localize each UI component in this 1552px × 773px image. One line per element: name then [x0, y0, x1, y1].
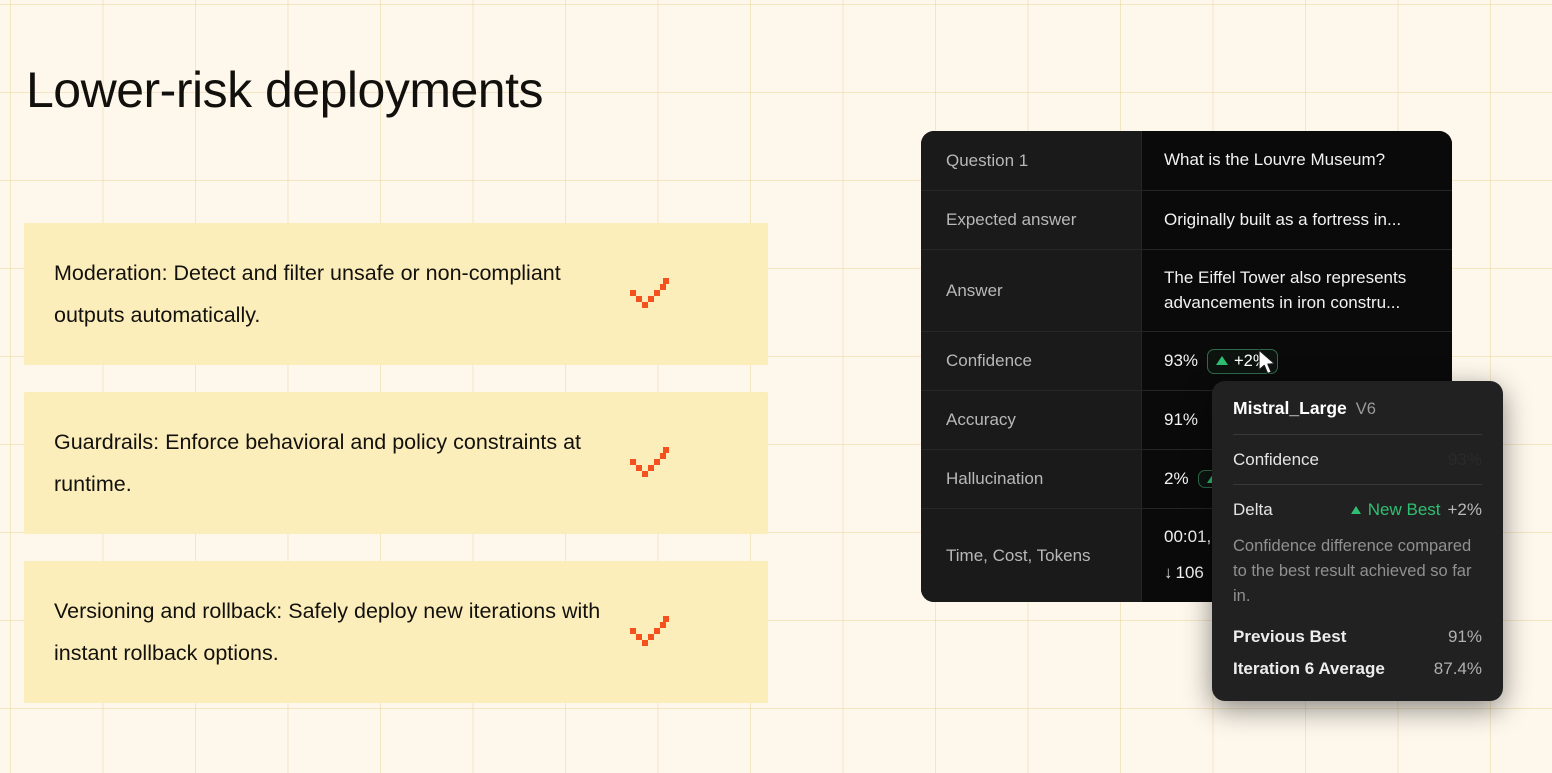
arrow-down-icon: ↓	[1164, 563, 1173, 582]
pixel-check-icon	[630, 616, 670, 648]
eval-value-text: 91%	[1164, 408, 1198, 433]
tooltip-stat-label: Previous Best	[1233, 627, 1346, 647]
feature-card-text: Moderation: Detect and filter unsafe or …	[54, 252, 614, 336]
tooltip-delta-value: +2%	[1448, 500, 1483, 520]
eval-value-text: 93%	[1164, 349, 1198, 374]
tooltip-confidence-label: Confidence	[1233, 450, 1319, 470]
feature-card-versioning[interactable]: Versioning and rollback: Safely deploy n…	[24, 561, 768, 703]
tooltip-model-version: V6	[1356, 400, 1376, 419]
tooltip-model-name: Mistral_Large	[1233, 398, 1347, 419]
triangle-up-icon	[1216, 356, 1228, 365]
eval-value-text: What is the Louvre Museum?	[1164, 148, 1432, 173]
eval-row-label: Expected answer	[921, 191, 1142, 249]
tooltip-delta-values: New Best +2%	[1351, 500, 1482, 520]
eval-row-question: Question 1 What is the Louvre Museum?	[921, 131, 1452, 190]
eval-value-text: 2%	[1164, 467, 1189, 492]
feature-card-text: Versioning and rollback: Safely deploy n…	[54, 590, 614, 674]
eval-row-value: The Eiffel Tower also represents advance…	[1142, 250, 1452, 331]
confidence-delta-badge[interactable]: +2%	[1207, 349, 1277, 375]
tooltip-description: Confidence difference compared to the be…	[1233, 534, 1482, 621]
confidence-tooltip: Mistral_Large V6 Confidence 93% Delta Ne…	[1212, 381, 1503, 701]
tooltip-stat-iteration-average: Iteration 6 Average 87.4%	[1233, 653, 1482, 685]
page-title: Lower-risk deployments	[26, 60, 543, 120]
tooltip-header: Mistral_Large V6	[1233, 398, 1482, 434]
eval-row-value: What is the Louvre Museum?	[1142, 131, 1452, 190]
tooltip-new-best-badge: New Best	[1368, 500, 1441, 520]
tooltip-delta-label: Delta	[1233, 500, 1273, 520]
tooltip-stat-previous-best: Previous Best 91%	[1233, 621, 1482, 653]
tooltip-stat-value: 91%	[1448, 627, 1482, 647]
triangle-up-icon	[1351, 506, 1361, 514]
eval-row-label: Hallucination	[921, 450, 1142, 508]
eval-value-text: The Eiffel Tower also represents advance…	[1164, 266, 1432, 315]
tooltip-confidence-row: Confidence 93%	[1233, 435, 1482, 484]
eval-row-value: Originally built as a fortress in...	[1142, 191, 1452, 249]
feature-card-moderation[interactable]: Moderation: Detect and filter unsafe or …	[24, 223, 768, 365]
pixel-check-icon	[630, 278, 670, 310]
eval-row-expected-answer: Expected answer Originally built as a fo…	[921, 190, 1452, 249]
eval-row-label: Confidence	[921, 332, 1142, 390]
feature-card-guardrails[interactable]: Guardrails: Enforce behavioral and polic…	[24, 392, 768, 534]
eval-row-label: Question 1	[921, 131, 1142, 190]
tooltip-confidence-value: 93%	[1448, 450, 1482, 470]
pixel-check-icon	[630, 447, 670, 479]
eval-value-tokens-count: 106	[1176, 563, 1204, 582]
eval-row-answer: Answer The Eiffel Tower also represents …	[921, 249, 1452, 331]
eval-value-text: Originally built as a fortress in...	[1164, 208, 1432, 233]
feature-card-list: Moderation: Detect and filter unsafe or …	[24, 223, 768, 703]
feature-card-text: Guardrails: Enforce behavioral and polic…	[54, 421, 614, 505]
tooltip-stat-value: 87.4%	[1434, 659, 1482, 679]
tooltip-delta-row: Delta New Best +2%	[1233, 485, 1482, 534]
delta-badge-text: +2%	[1234, 353, 1267, 370]
tooltip-stat-label: Iteration 6 Average	[1233, 659, 1385, 679]
eval-row-label: Answer	[921, 250, 1142, 331]
eval-row-label: Time, Cost, Tokens	[921, 509, 1142, 601]
eval-row-label: Accuracy	[921, 391, 1142, 449]
